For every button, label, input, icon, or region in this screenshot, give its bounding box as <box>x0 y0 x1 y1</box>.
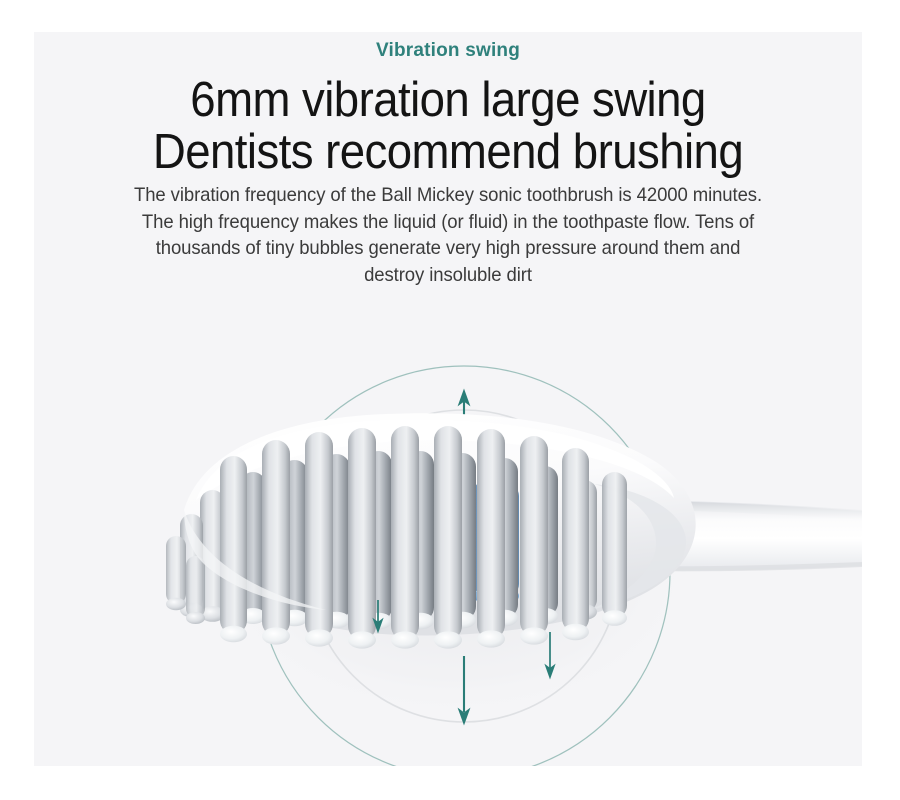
description-line-3: thousands of tiny bubbles generate very … <box>68 235 828 262</box>
content-panel: Vibration swing 6mm vibration large swin… <box>34 32 862 766</box>
illustration-stage <box>34 304 862 766</box>
description-line-1: The vibration frequency of the Ball Mick… <box>68 182 828 209</box>
toothbrush-vibration-illustration <box>34 304 862 766</box>
description-paragraph: The vibration frequency of the Ball Mick… <box>68 182 828 288</box>
description-line-4: destroy insoluble dirt <box>68 262 828 289</box>
page-title: 6mm vibration large swing Dentists recom… <box>63 74 833 178</box>
headline-line-1: 6mm vibration large swing <box>63 74 833 126</box>
headline-line-2: Dentists recommend brushing <box>63 126 833 178</box>
description-line-2: The high frequency makes the liquid (or … <box>68 209 828 236</box>
eyebrow-label: Vibration swing <box>34 40 862 62</box>
product-feature-page: Vibration swing 6mm vibration large swin… <box>0 0 900 800</box>
